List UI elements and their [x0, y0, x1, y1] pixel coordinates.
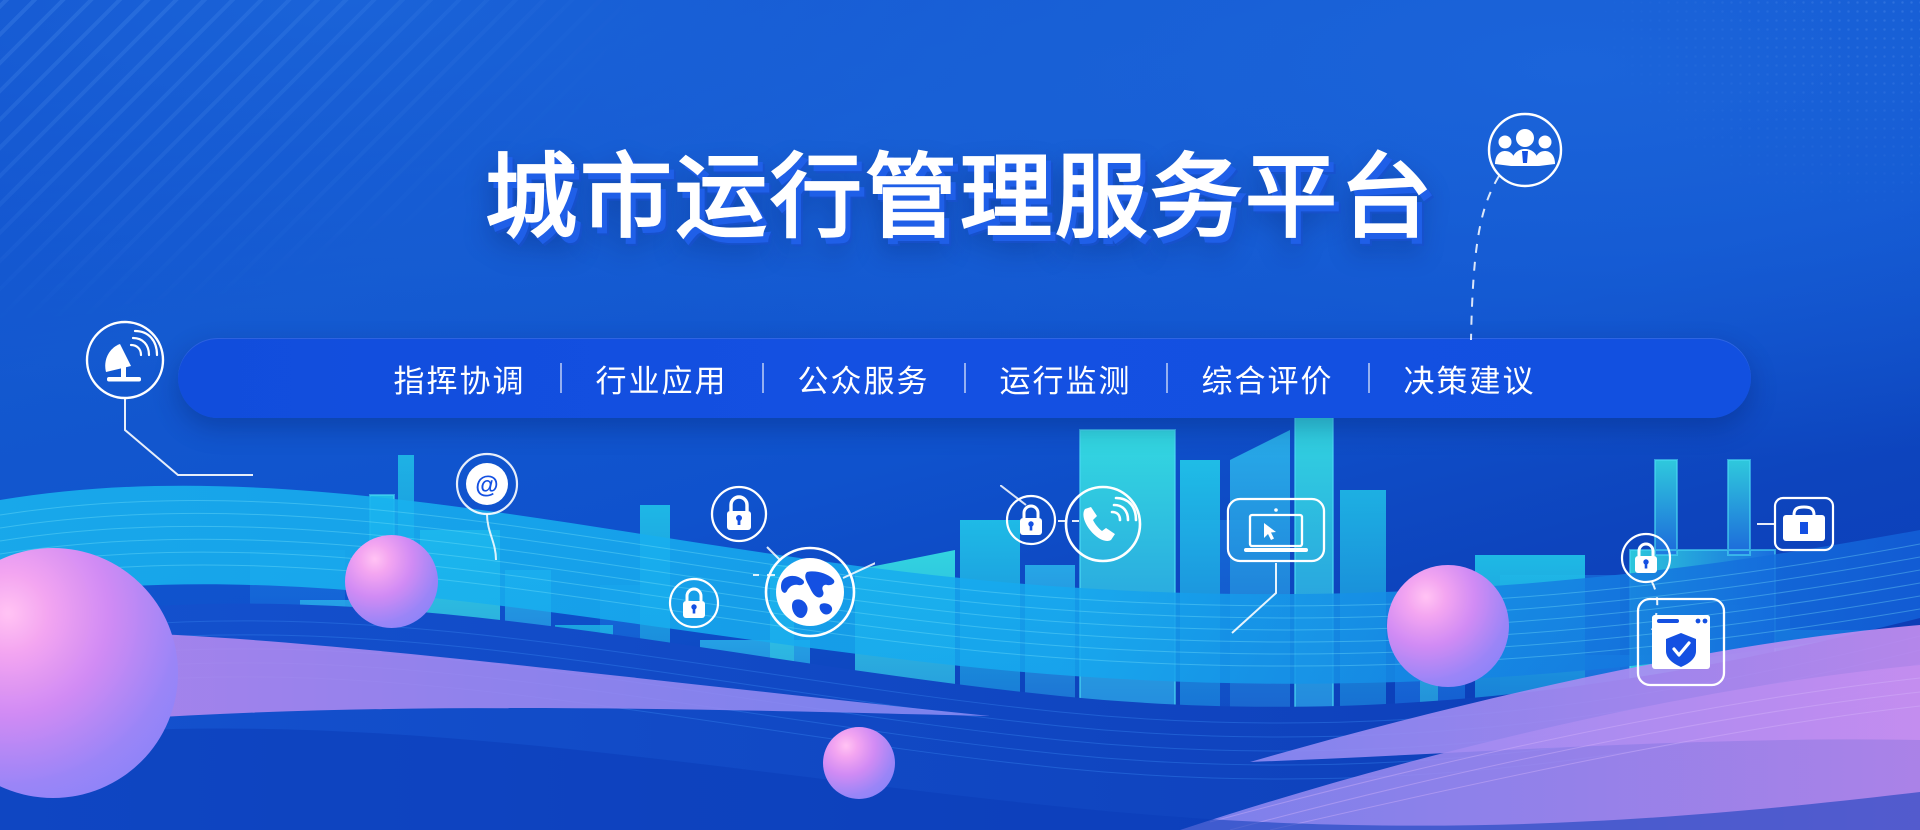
- primary-navigation-bar: 指挥协调行业应用公众服务运行监测综合评价决策建议: [178, 338, 1751, 418]
- navigation-item-list: 指挥协调行业应用公众服务运行监测综合评价决策建议: [360, 356, 1570, 401]
- nav-item-industry-application[interactable]: 行业应用: [562, 356, 762, 401]
- at-sign-icon: @: [452, 450, 562, 580]
- nav-item-comprehensive-evaluation[interactable]: 综合评价: [1168, 356, 1368, 401]
- satellite-dish-icon: [73, 310, 263, 500]
- nav-item-operation-monitoring[interactable]: 运行监测: [966, 356, 1166, 401]
- nav-item-decision-advice[interactable]: 决策建议: [1370, 356, 1570, 401]
- people-group-icon: [1465, 110, 1625, 340]
- gradient-sphere: [823, 727, 895, 799]
- page-title-wrapper: 城市运行管理服务平台: [0, 150, 1920, 248]
- phone-signal-icon: [1057, 478, 1149, 570]
- nav-item-public-service[interactable]: 公众服务: [764, 356, 964, 401]
- nav-item-command-coordination[interactable]: 指挥协调: [360, 356, 560, 401]
- city-platform-banner: @: [0, 0, 1920, 830]
- laptop-cursor-icon: [1222, 493, 1372, 653]
- globe-icon: [745, 530, 875, 660]
- svg-text:@: @: [475, 472, 498, 499]
- briefcase-icon: [1757, 484, 1877, 564]
- gradient-sphere: [345, 535, 438, 628]
- browser-shield-icon: [1628, 589, 1748, 699]
- page-title: 城市运行管理服务平台: [485, 150, 1435, 248]
- lock-icon: [666, 575, 722, 631]
- gradient-sphere: [1387, 565, 1509, 687]
